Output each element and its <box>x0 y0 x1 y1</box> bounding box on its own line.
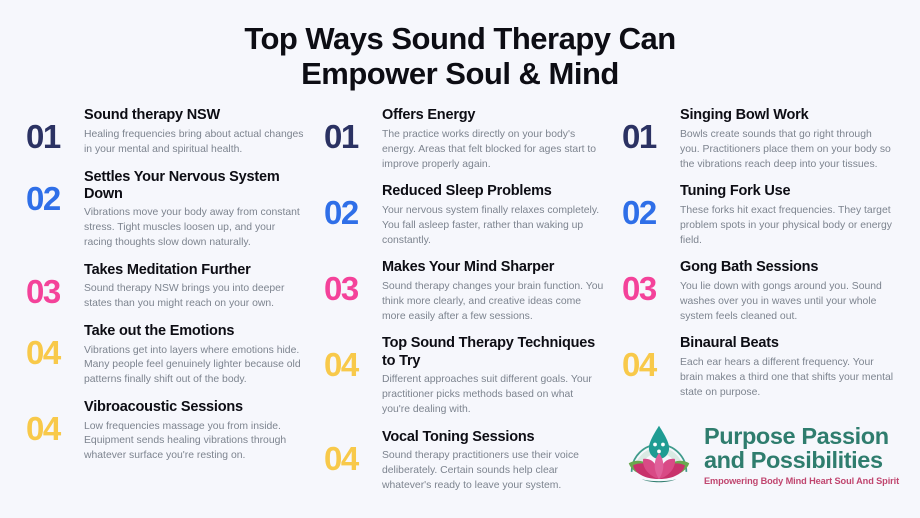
item-title: Sound therapy NSW <box>84 107 306 124</box>
item-number: 02 <box>622 198 678 228</box>
item-description: These forks hit exact frequencies. They … <box>680 204 894 249</box>
item-description: Vibrations move your body away from cons… <box>84 206 306 251</box>
item-body: Reduced Sleep Problems Your nervous syst… <box>382 181 604 248</box>
columns-container: 01 Sound therapy NSW Healing frequencies… <box>26 105 894 502</box>
item-body: Vocal Toning Sessions Sound therapy prac… <box>382 427 604 494</box>
title-line-1: Top Ways Sound Therapy Can <box>126 22 794 57</box>
item-description: Sound therapy NSW brings you into deeper… <box>84 282 306 312</box>
item-body: Singing Bowl Work Bowls create sounds th… <box>680 105 894 172</box>
item-description: Different approaches suit different goal… <box>382 373 604 418</box>
item-title: Settles Your Nervous System Down <box>84 169 306 204</box>
list-item: 04 Take out the Emotions Vibrations get … <box>26 321 306 388</box>
item-body: Tuning Fork Use These forks hit exact fr… <box>680 181 894 248</box>
list-item: 04 Vocal Toning Sessions Sound therapy p… <box>324 427 604 494</box>
item-body: Offers Energy The practice works directl… <box>382 105 604 172</box>
item-description: Each ear hears a different frequency. Yo… <box>680 356 894 401</box>
column-1: 01 Sound therapy NSW Healing frequencies… <box>26 105 306 473</box>
item-title: Gong Bath Sessions <box>680 259 894 276</box>
list-item: 02 Tuning Fork Use These forks hit exact… <box>622 181 894 248</box>
list-item: 02 Settles Your Nervous System Down Vibr… <box>26 167 306 251</box>
item-number: 03 <box>622 274 678 304</box>
list-item: 01 Offers Energy The practice works dire… <box>324 105 604 172</box>
item-body: Take out the Emotions Vibrations get int… <box>84 321 306 388</box>
list-item: 01 Sound therapy NSW Healing frequencies… <box>26 105 306 157</box>
item-number: 04 <box>622 350 678 380</box>
item-title: Binaural Beats <box>680 335 894 352</box>
list-item: 02 Reduced Sleep Problems Your nervous s… <box>324 181 604 248</box>
list-item: 03 Takes Meditation Further Sound therap… <box>26 260 306 312</box>
item-title: Top Sound Therapy Techniques to Try <box>382 335 604 370</box>
item-title: Vibroacoustic Sessions <box>84 399 306 416</box>
title-line-2: Empower Soul & Mind <box>126 57 794 92</box>
item-body: Settles Your Nervous System Down Vibrati… <box>84 167 306 251</box>
item-number: 02 <box>26 184 82 214</box>
item-title: Vocal Toning Sessions <box>382 429 604 446</box>
item-description: Healing frequencies bring about actual c… <box>84 128 306 158</box>
item-description: Bowls create sounds that go right throug… <box>680 128 894 173</box>
list-item: 03 Gong Bath Sessions You lie down with … <box>622 257 894 324</box>
item-number: 03 <box>26 277 82 307</box>
item-number: 04 <box>26 338 82 368</box>
item-number: 01 <box>324 122 380 152</box>
item-number: 04 <box>324 350 380 380</box>
column-3: 01 Singing Bowl Work Bowls create sounds… <box>622 105 894 491</box>
item-title: Offers Energy <box>382 107 604 124</box>
item-title: Makes Your Mind Sharper <box>382 259 604 276</box>
brand-name-line-1: Purpose Passion <box>704 425 894 449</box>
item-number: 03 <box>324 274 380 304</box>
list-item: 04 Top Sound Therapy Techniques to Try D… <box>324 333 604 417</box>
item-title: Tuning Fork Use <box>680 183 894 200</box>
item-title: Singing Bowl Work <box>680 107 894 124</box>
list-item: 01 Singing Bowl Work Bowls create sounds… <box>622 105 894 172</box>
list-item: 04 Binaural Beats Each ear hears a diffe… <box>622 333 894 400</box>
item-description: Vibrations get into layers where emotion… <box>84 344 306 389</box>
brand-name-line-2: and Possibilities <box>704 449 894 473</box>
item-description: You lie down with gongs around you. Soun… <box>680 280 894 325</box>
item-number: 04 <box>26 414 82 444</box>
item-title: Take out the Emotions <box>84 323 306 340</box>
column-2: 01 Offers Energy The practice works dire… <box>324 105 604 502</box>
item-number: 04 <box>324 444 380 474</box>
item-number: 01 <box>622 122 678 152</box>
list-item: 04 Vibroacoustic Sessions Low frequencie… <box>26 397 306 464</box>
item-number: 02 <box>324 198 380 228</box>
item-title: Takes Meditation Further <box>84 262 306 279</box>
item-description: Sound therapy changes your brain functio… <box>382 280 604 325</box>
brand-tagline: Empowering Body Mind Heart Soul And Spir… <box>704 476 894 486</box>
infographic-poster: Top Ways Sound Therapy Can Empower Soul … <box>0 0 920 518</box>
item-title: Reduced Sleep Problems <box>382 183 604 200</box>
item-body: Sound therapy NSW Healing frequencies br… <box>84 105 306 157</box>
list-item: 03 Makes Your Mind Sharper Sound therapy… <box>324 257 604 324</box>
item-description: The practice works directly on your body… <box>382 128 604 173</box>
brand-logo: Purpose Passion and Possibilities Empowe… <box>622 420 894 492</box>
item-description: Low frequencies massage you from inside.… <box>84 420 306 465</box>
item-body: Makes Your Mind Sharper Sound therapy ch… <box>382 257 604 324</box>
item-description: Your nervous system finally relaxes comp… <box>382 204 604 249</box>
item-number: 01 <box>26 122 82 152</box>
item-description: Sound therapy practitioners use their vo… <box>382 449 604 494</box>
lotus-flower-icon <box>622 420 696 492</box>
item-body: Top Sound Therapy Techniques to Try Diff… <box>382 333 604 417</box>
brand-logo-text: Purpose Passion and Possibilities Empowe… <box>704 425 894 486</box>
item-body: Gong Bath Sessions You lie down with gon… <box>680 257 894 324</box>
item-body: Binaural Beats Each ear hears a differen… <box>680 333 894 400</box>
item-body: Vibroacoustic Sessions Low frequencies m… <box>84 397 306 464</box>
item-body: Takes Meditation Further Sound therapy N… <box>84 260 306 312</box>
page-title: Top Ways Sound Therapy Can Empower Soul … <box>26 22 894 91</box>
